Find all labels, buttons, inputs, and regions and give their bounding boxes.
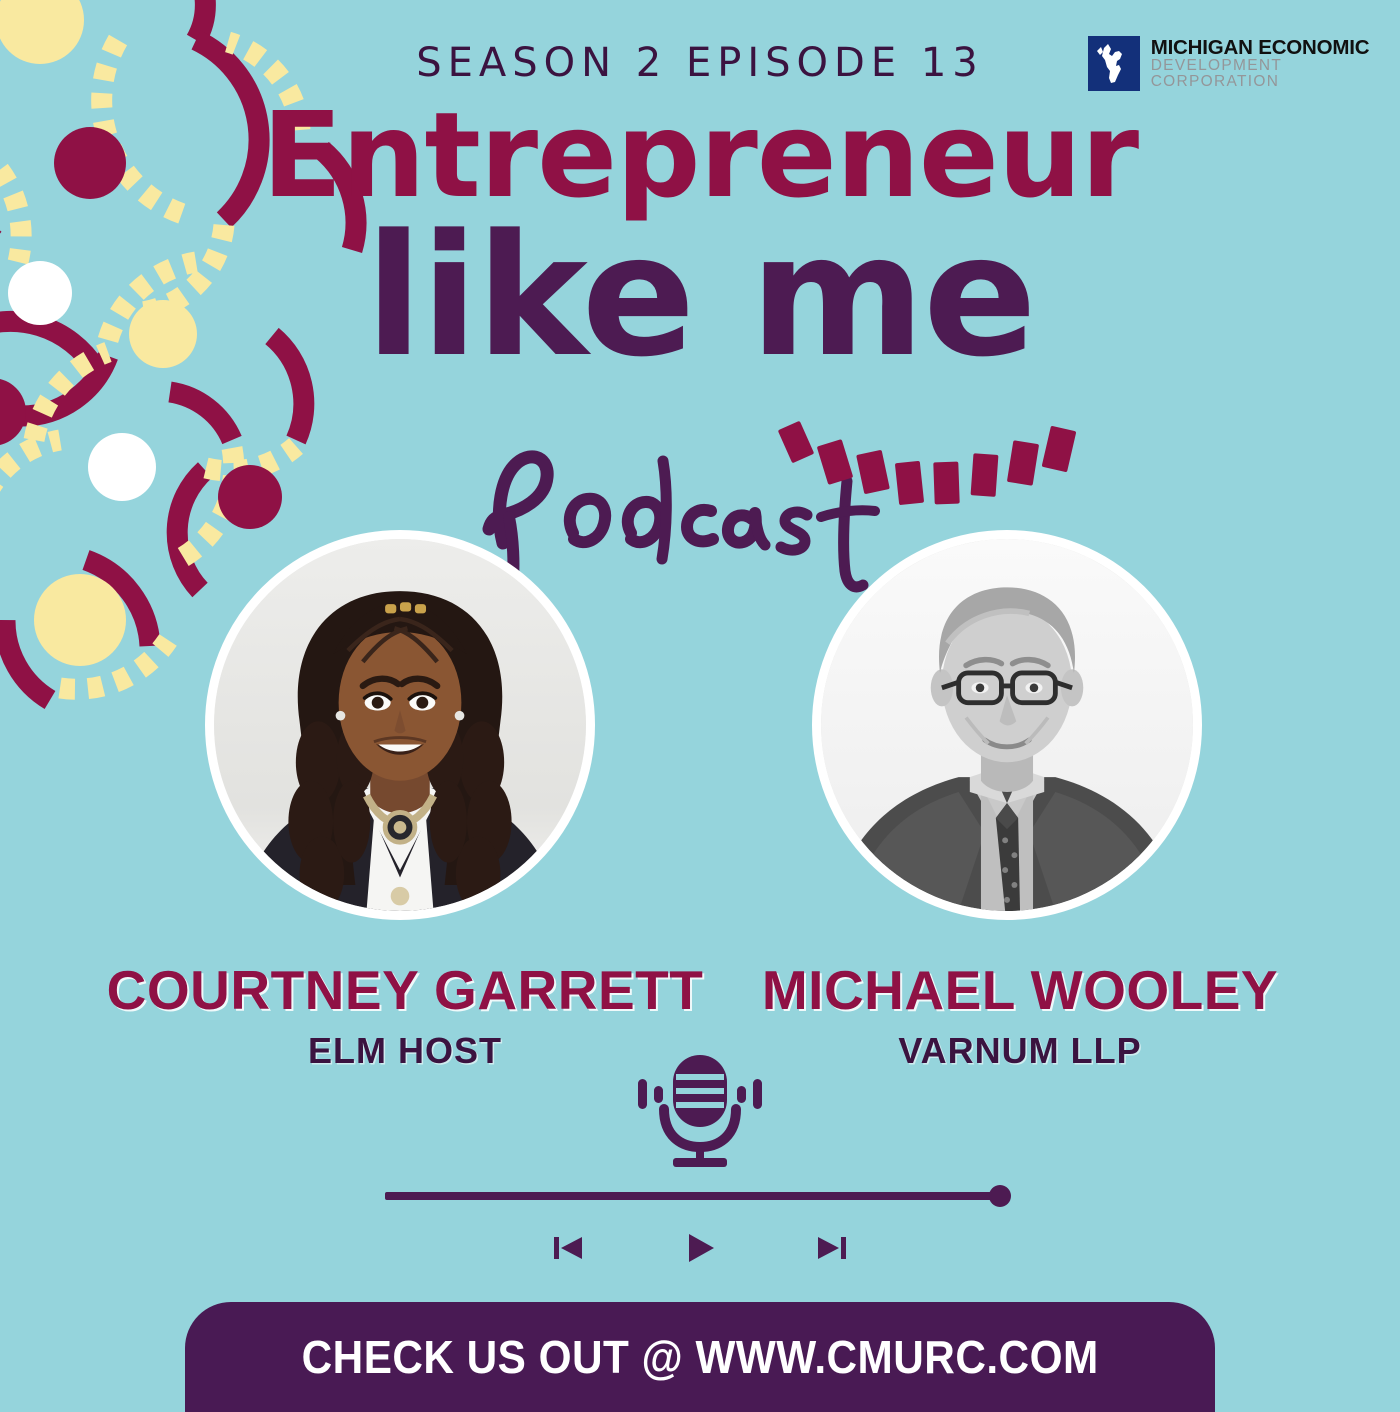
michigan-state-outline-icon [1088, 36, 1140, 91]
deco-dot [34, 574, 126, 666]
next-track-button[interactable] [812, 1228, 852, 1268]
title-line-entrepreneur: Entrepreneur [0, 96, 1400, 214]
deco-dot [218, 465, 282, 529]
podcast-title: Entrepreneur like me [0, 96, 1400, 377]
playback-controls [0, 1228, 1400, 1268]
deco-dot [88, 433, 156, 501]
medc-logo: MICHIGAN ECONOMIC DEVELOPMENT CORPORATIO… [1088, 36, 1400, 91]
michigan-map-glyph [1095, 42, 1133, 86]
avatar-courtney-garrett [214, 539, 586, 911]
medc-logo-line1: MICHIGAN ECONOMIC [1151, 37, 1400, 58]
guest-block-1: MICHAEL WOOLEY VARNUM LLP [705, 958, 1335, 1072]
progress-track [385, 1192, 1003, 1200]
playback-progress-bar[interactable] [385, 1185, 1015, 1207]
poster-canvas: SEASON 2 EPISODE 13 MICHIGAN ECONOMIC DE… [0, 0, 1400, 1400]
deco-dot [0, 378, 26, 446]
microphone-icon [618, 1053, 782, 1171]
michael-wooley-portrait [812, 530, 1202, 920]
cta-text: CHECK US OUT @ WWW.CMURC.COM [301, 1330, 1098, 1384]
progress-knob [989, 1185, 1011, 1207]
dashed-arc-decoration [770, 420, 1080, 550]
previous-track-button[interactable] [548, 1228, 588, 1268]
avatar-michael-wooley [821, 539, 1193, 911]
guest-role: VARNUM LLP [705, 1030, 1335, 1072]
courtney-garrett-portrait [205, 530, 595, 920]
play-button[interactable] [680, 1228, 720, 1268]
title-line-like-me: like me [0, 216, 1400, 377]
cta-banner[interactable]: CHECK US OUT @ WWW.CMURC.COM [185, 1302, 1215, 1412]
medc-logo-line2: DEVELOPMENT CORPORATION [1151, 58, 1400, 90]
guest-name: COURTNEY GARRETT [60, 958, 750, 1022]
guest-name: MICHAEL WOOLEY [705, 958, 1335, 1022]
